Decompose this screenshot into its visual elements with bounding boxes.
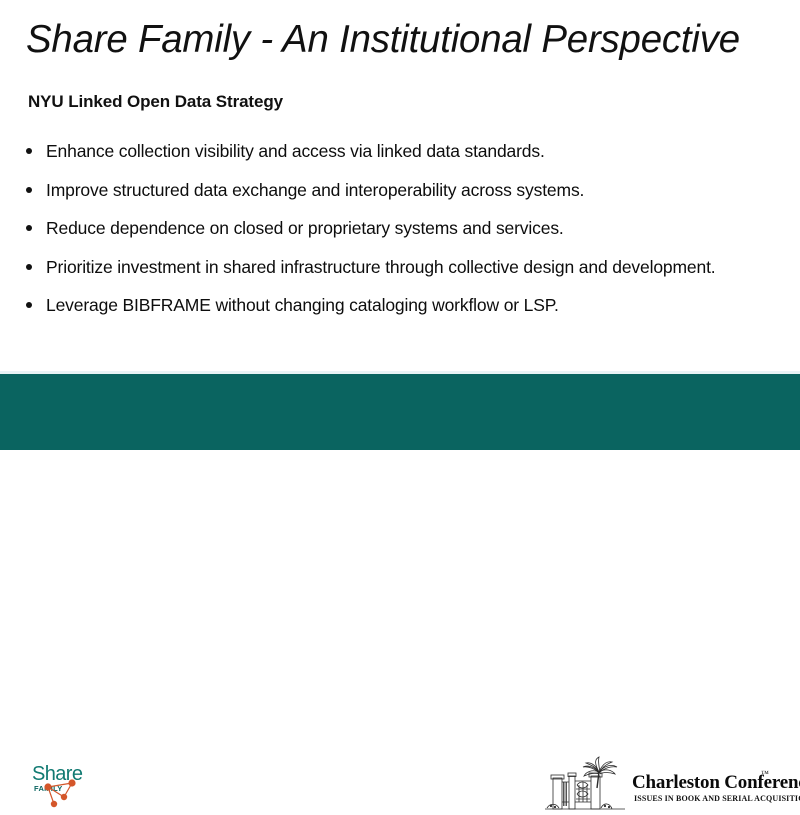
charleston-name: Charleston Conference [632,772,800,794]
share-tagline-line: Linked [93,760,149,775]
bullet-dot-icon [26,225,32,231]
slide-subheading: NYU Linked Open Data Strategy [28,92,283,112]
share-tagline-line: Ecosystem [93,789,149,804]
list-item: Improve structured data exchange and int… [26,171,776,210]
list-item-text: Leverage BIBFRAME without changing catal… [46,286,776,325]
list-item-text: Enhance collection visibility and access… [46,132,776,171]
list-item: Reduce dependence on closed or proprieta… [26,209,776,248]
bullet-dot-icon [26,302,32,308]
list-item: Prioritize investment in shared infrastr… [26,248,776,287]
gate-palm-tree-icon [539,754,631,813]
bullet-dot-icon [26,187,32,193]
bullet-dot-icon [26,148,32,154]
list-item: Leverage BIBFRAME without changing catal… [26,286,776,325]
list-item: Enhance collection visibility and access… [26,132,776,171]
list-item-text: Prioritize investment in shared infrastr… [46,248,776,287]
share-family-logo: Share FAMILY [28,754,88,814]
list-item-text: Reduce dependence on closed or proprieta… [46,209,776,248]
bullet-dot-icon [26,264,32,270]
share-tagline: Linked Data Ecosystem [93,760,149,804]
bullet-list: Enhance collection visibility and access… [26,132,776,325]
share-tagline-line: Data [93,775,149,790]
slide-title: Share Family - An Institutional Perspect… [26,18,771,62]
charleston-conference-logo: Charleston Conference ™ ISSUES IN BOOK A… [535,752,783,815]
logo-circle: Share FAMILY [28,754,88,814]
list-item-text: Improve structured data exchange and int… [46,171,776,210]
charleston-tagline: ISSUES IN BOOK AND SERIAL ACQUISITION [634,794,800,803]
slide-footer: Share FAMILY Linked Data [0,374,800,450]
trademark-icon: ™ [761,769,769,778]
presentation-slide: Share Family - An Institutional Perspect… [0,0,800,450]
network-nodes-icon [28,754,88,814]
